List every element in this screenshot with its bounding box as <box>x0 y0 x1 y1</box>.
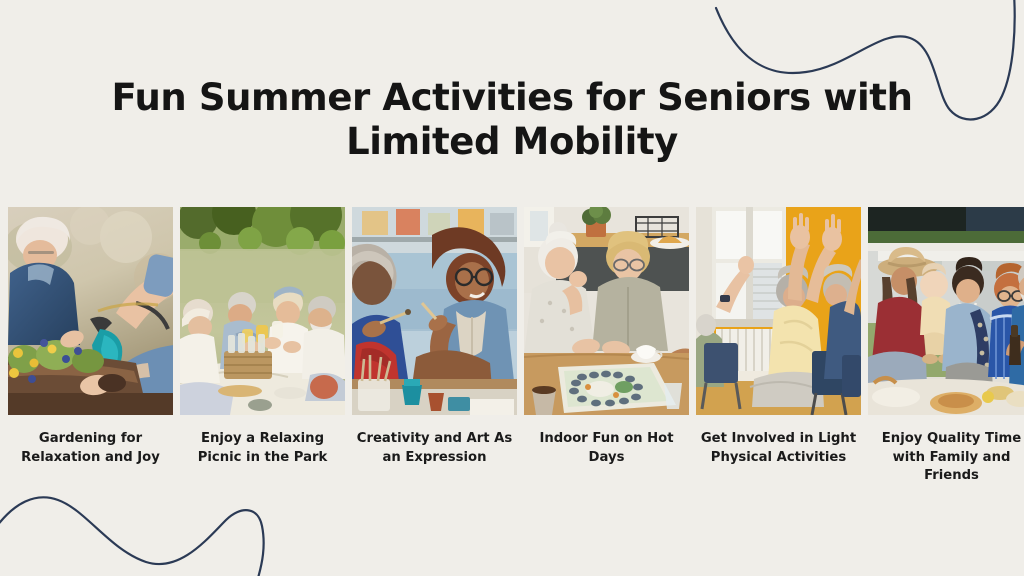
slide-canvas: Fun Summer Activities for Seniors with L… <box>0 0 1024 576</box>
title-block: Fun Summer Activities for Seniors with L… <box>0 76 1024 163</box>
activity-card-caption: Creativity and Art As an Expression <box>352 430 517 467</box>
activity-card-art[interactable]: Creativity and Art As an Expression <box>352 207 517 486</box>
activity-card-family[interactable]: Enjoy Quality Time with Family and Frien… <box>868 207 1024 486</box>
photo-family-gathering <box>868 207 1024 415</box>
photo-gardening <box>8 207 173 415</box>
activity-card-caption: Enjoy Quality Time with Family and Frien… <box>868 430 1024 486</box>
bottom-left-wave-decoration <box>0 486 300 576</box>
photo-art-class <box>352 207 517 415</box>
activity-card-caption: Indoor Fun on Hot Days <box>524 430 689 467</box>
photo-chair-exercise <box>696 207 861 415</box>
activity-card-caption: Enjoy a Relaxing Picnic in the Park <box>180 430 345 467</box>
photo-board-game <box>524 207 689 415</box>
activity-card-gardening[interactable]: Gardening for Relaxation and Joy <box>8 207 173 486</box>
activity-card-exercise[interactable]: Get Involved in Light Physical Activitie… <box>696 207 861 486</box>
activity-card-caption: Get Involved in Light Physical Activitie… <box>696 430 861 467</box>
activity-gallery: Gardening for Relaxation and Joy <box>8 207 1017 486</box>
photo-picnic <box>180 207 345 415</box>
activity-card-picnic[interactable]: Enjoy a Relaxing Picnic in the Park <box>180 207 345 486</box>
page-title: Fun Summer Activities for Seniors with L… <box>80 76 944 163</box>
activity-card-indoor-games[interactable]: Indoor Fun on Hot Days <box>524 207 689 486</box>
activity-card-caption: Gardening for Relaxation and Joy <box>8 430 173 467</box>
